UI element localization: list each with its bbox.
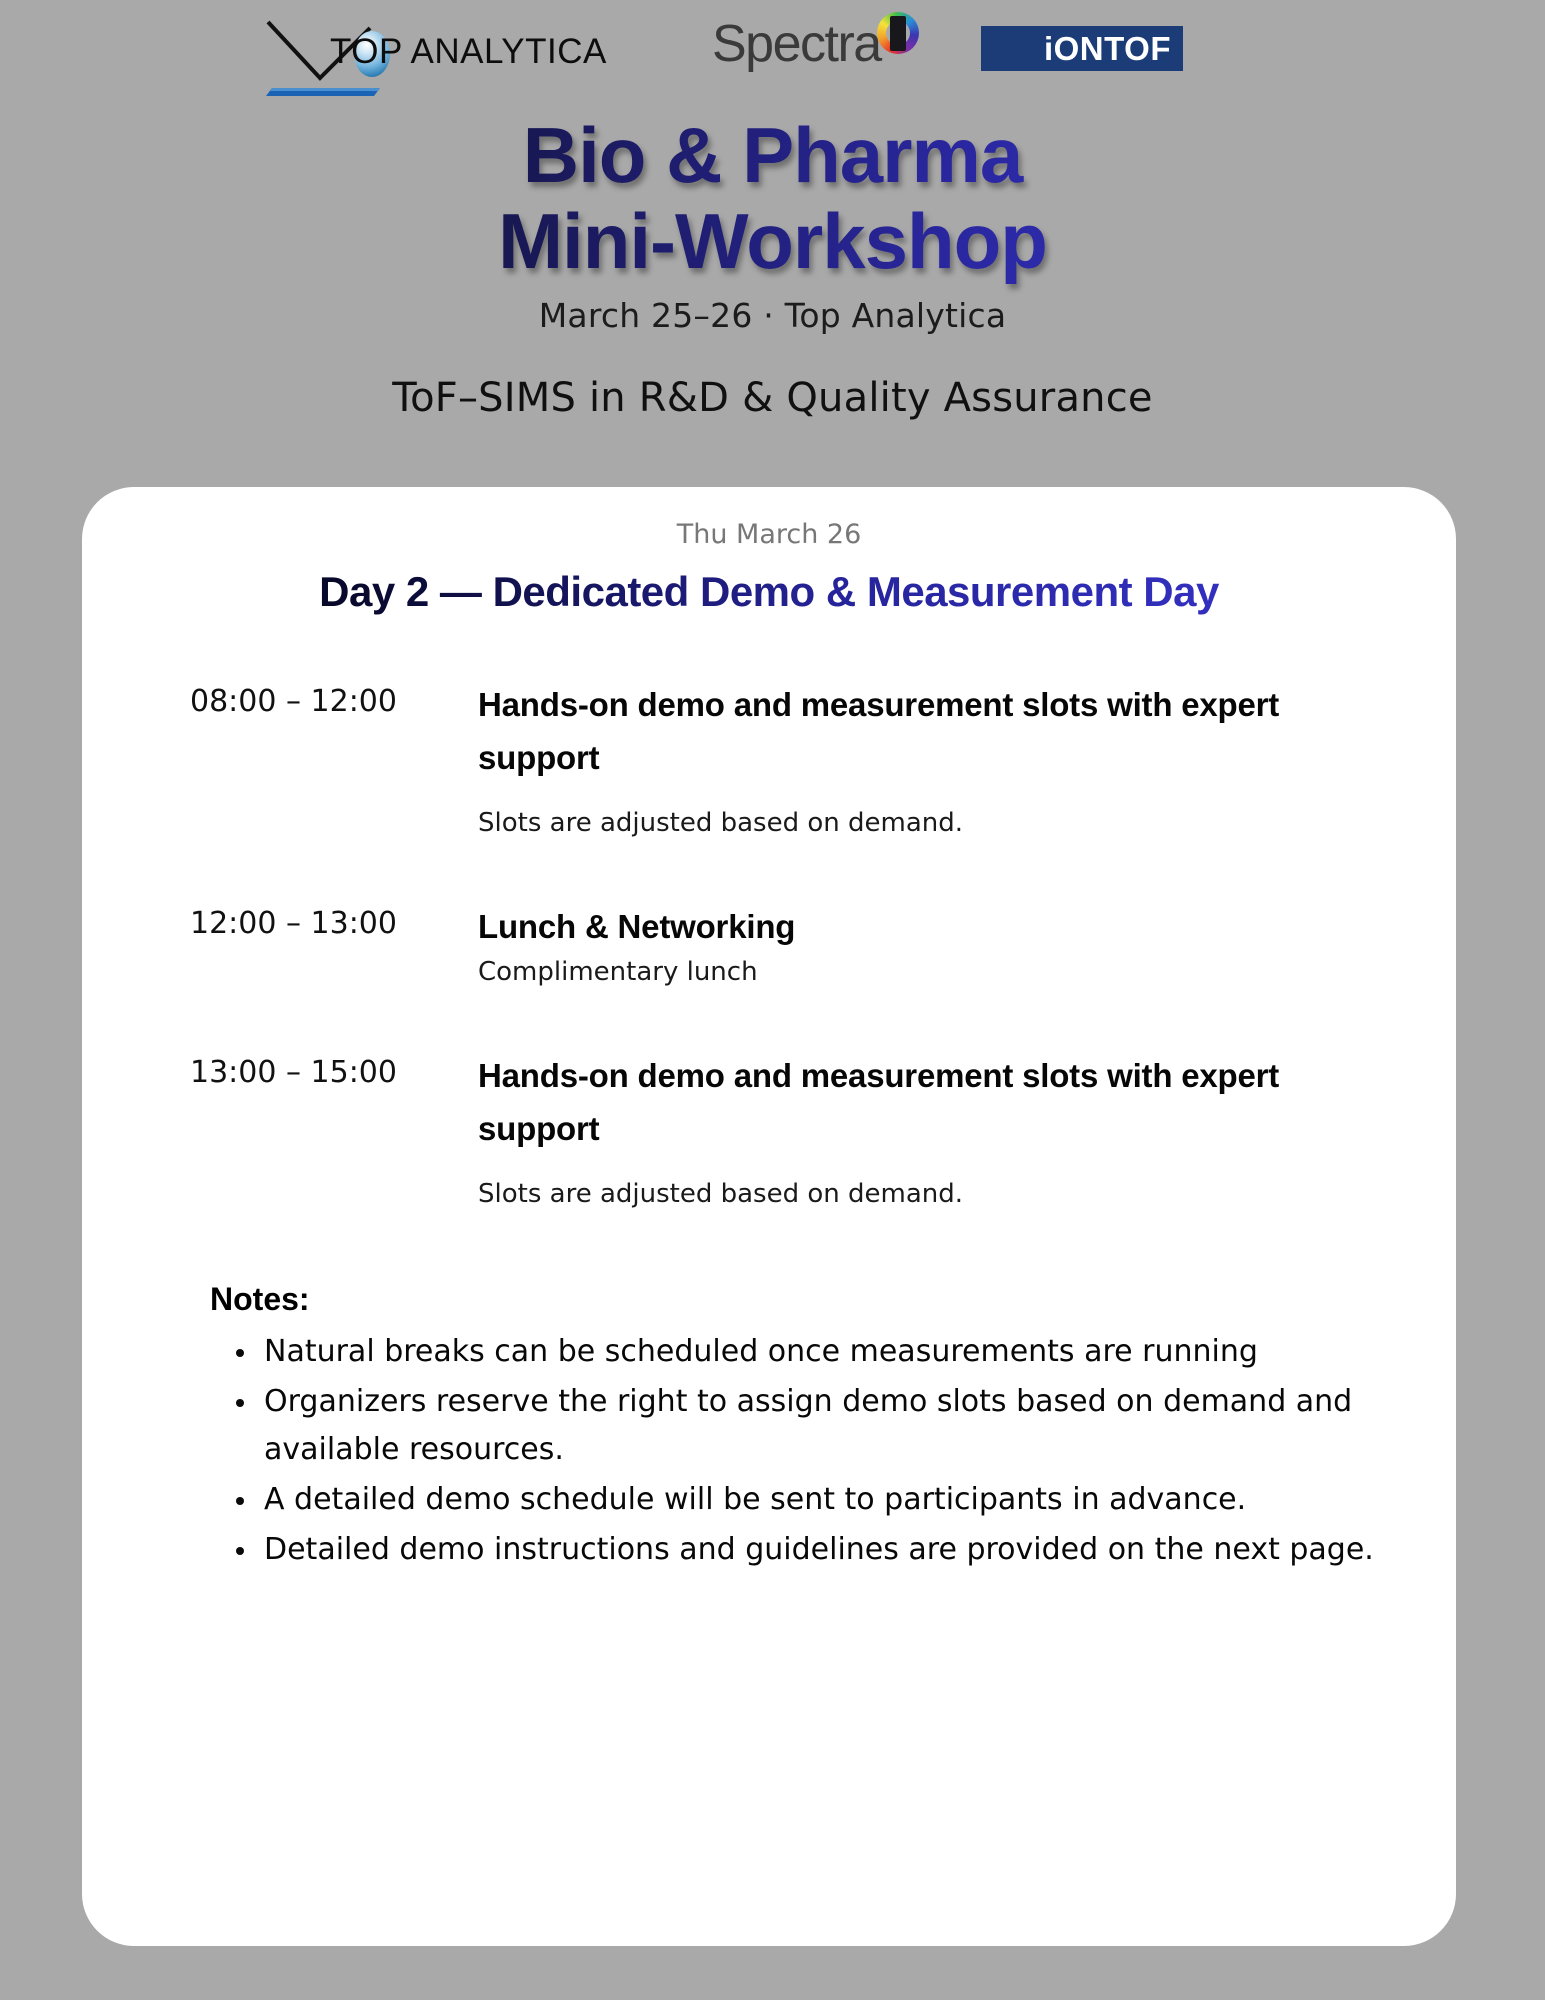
event-topic: ToF–SIMS in R&D & Quality Assurance — [0, 375, 1545, 421]
schedule-row-time: 13:00 – 15:00 — [190, 1049, 478, 1090]
schedule-row-desc: Slots are adjusted based on demand. — [478, 808, 1396, 838]
schedule-row: 08:00 – 12:00 Hands-on demo and measurem… — [190, 678, 1396, 838]
schedule-row-body: Hands-on demo and measurement slots with… — [478, 1049, 1396, 1209]
schedule-row-time: 12:00 – 13:00 — [190, 900, 478, 941]
top-analytica-wordmark: TOP ANALYTICA — [330, 32, 607, 72]
notes-section: Notes: Natural breaks can be scheduled o… — [82, 1281, 1456, 1574]
agenda-card: Thu March 26 Day 2 — Dedicated Demo & Me… — [82, 487, 1456, 1946]
notes-title: Notes: — [210, 1281, 1386, 1318]
spectral-l-bar-icon — [890, 16, 906, 51]
spectral-logo: Spectra — [712, 10, 927, 80]
schedule-row-title: Lunch & Networking — [478, 900, 1396, 953]
notes-list-item: Natural breaks can be scheduled once mea… — [264, 1328, 1386, 1376]
page-title-line-1: Bio & Pharma — [0, 112, 1545, 198]
schedule-row-desc: Slots are adjusted based on demand. — [478, 1179, 1396, 1209]
logo-strip: TOP ANALYTICA Spectra iONTOF — [0, 0, 1545, 106]
schedule-row-desc: Complimentary lunch — [478, 957, 1396, 987]
schedule-row: 13:00 – 15:00 Hands-on demo and measurem… — [190, 1049, 1396, 1209]
page-title-line-2: Mini-Workshop — [0, 198, 1545, 284]
schedule-row-title: Hands-on demo and measurement slots with… — [478, 1049, 1396, 1155]
iontof-logo: iONTOF — [981, 26, 1183, 71]
top-analytica-logo: TOP ANALYTICA — [262, 6, 662, 104]
iontof-wordmark: iONTOF — [1044, 30, 1171, 68]
notes-list: Natural breaks can be scheduled once mea… — [210, 1328, 1386, 1574]
notes-list-item: Organizers reserve the right to assign d… — [264, 1378, 1386, 1474]
schedule-list: 08:00 – 12:00 Hands-on demo and measurem… — [82, 678, 1456, 1209]
day-date-label: Thu March 26 — [82, 519, 1456, 550]
schedule-row-title: Hands-on demo and measurement slots with… — [478, 678, 1396, 784]
notes-list-item: A detailed demo schedule will be sent to… — [264, 1476, 1386, 1524]
schedule-row: 12:00 – 13:00 Lunch & Networking Complim… — [190, 900, 1396, 987]
notes-list-item: Detailed demo instructions and guideline… — [264, 1526, 1386, 1574]
spectral-wordmark: Spectra — [712, 14, 881, 74]
schedule-row-body: Lunch & Networking Complimentary lunch — [478, 900, 1396, 987]
schedule-row-time: 08:00 – 12:00 — [190, 678, 478, 719]
day-heading: Day 2 — Dedicated Demo & Measurement Day — [82, 568, 1456, 616]
event-date-venue: March 25–26 · Top Analytica — [0, 296, 1545, 335]
page-header: Bio & Pharma Mini-Workshop March 25–26 ·… — [0, 112, 1545, 421]
schedule-row-body: Hands-on demo and measurement slots with… — [478, 678, 1396, 838]
page-title: Bio & Pharma Mini-Workshop — [0, 112, 1545, 284]
